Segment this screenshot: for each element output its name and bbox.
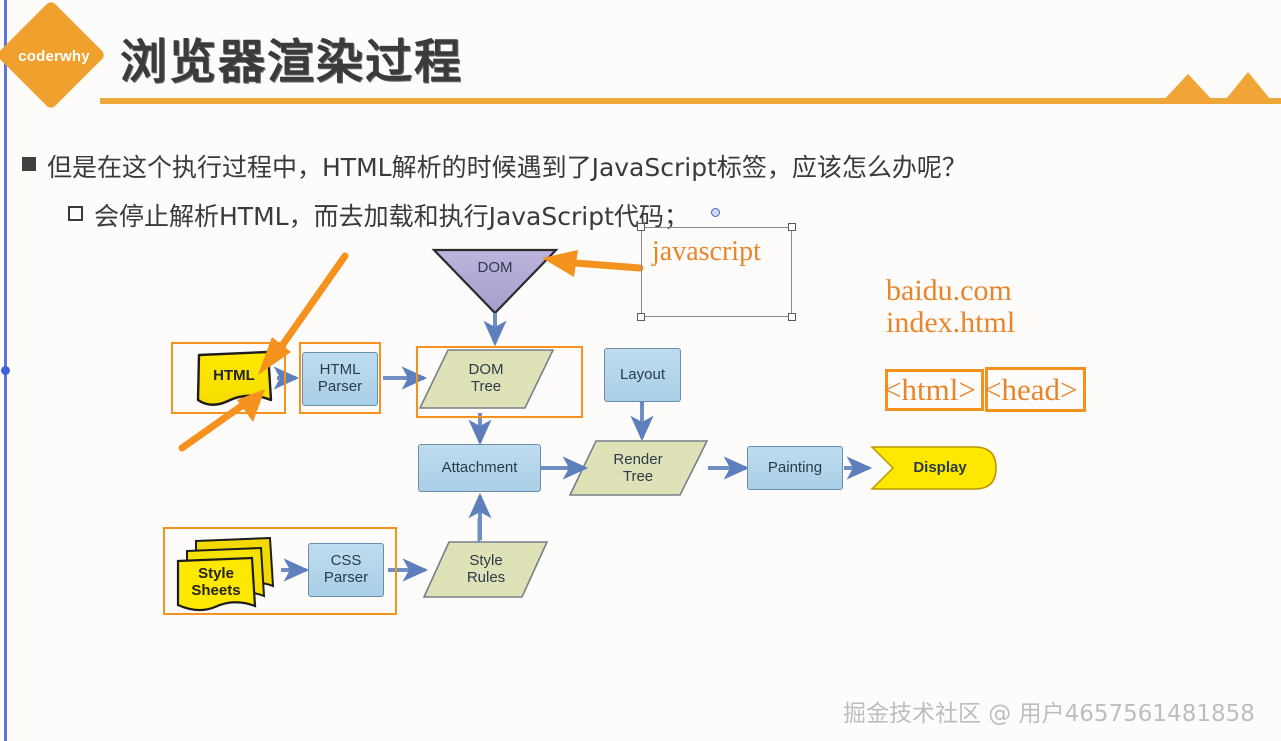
guide-handle-dot[interactable] (1, 366, 10, 375)
node-css-parser[interactable]: CSS Parser (308, 543, 384, 597)
resize-handle-top-left[interactable] (637, 223, 645, 231)
node-attachment[interactable]: Attachment (418, 444, 541, 492)
bullet-item-2: 会停止解析HTML，而去加载和执行JavaScript代码； (68, 197, 689, 233)
annotation-url-line2: index.html (886, 306, 1015, 340)
annotation-tag-html: <html> (884, 372, 976, 408)
node-dom[interactable]: DOM (434, 252, 556, 284)
node-style-sheets[interactable]: Style Sheets (178, 560, 254, 606)
node-painting[interactable]: Painting (747, 446, 843, 490)
bullet-1-text: 但是在这个执行过程中，HTML解析的时候遇到了JavaScript标签，应该怎么… (47, 148, 967, 184)
node-layout[interactable]: Layout (604, 348, 681, 402)
rotation-handle[interactable] (711, 208, 720, 217)
node-dom-tree[interactable]: DOM Tree (440, 354, 532, 404)
bullet-item-1: 但是在这个执行过程中，HTML解析的时候遇到了JavaScript标签，应该怎么… (22, 148, 967, 184)
title-underline-rule (100, 98, 1281, 104)
resize-handle-bottom-right[interactable] (788, 313, 796, 321)
javascript-textbox-label: javascript (652, 236, 792, 268)
node-render-tree[interactable]: Render Tree (592, 445, 684, 493)
annotation-url-line1: baidu.com (886, 274, 1012, 308)
annotation-tag-head: <head> (984, 372, 1077, 408)
resize-handle-top-right[interactable] (788, 223, 796, 231)
page-title: 浏览器渲染过程 (120, 23, 463, 92)
node-html-document[interactable]: HTML (196, 362, 272, 390)
mountain-decoration-icon (1130, 66, 1281, 104)
watermark-text: 掘金技术社区 @ 用户4657561481858 (843, 694, 1255, 728)
slide-canvas: coderwhy 浏览器渲染过程 但是在这个执行过程中，HTML解析的时候遇到了… (0, 0, 1281, 741)
coderwhy-logo-text: coderwhy (8, 48, 100, 65)
node-html-parser[interactable]: HTML Parser (302, 352, 378, 406)
resize-handle-bottom-left[interactable] (637, 313, 645, 321)
bullet-2-text: 会停止解析HTML，而去加载和执行JavaScript代码； (94, 197, 689, 233)
node-display[interactable]: Display (890, 452, 990, 484)
node-style-rules[interactable]: Style Rules (440, 546, 532, 594)
square-bullet-hollow-icon (68, 206, 83, 221)
square-bullet-filled-icon (22, 157, 36, 171)
